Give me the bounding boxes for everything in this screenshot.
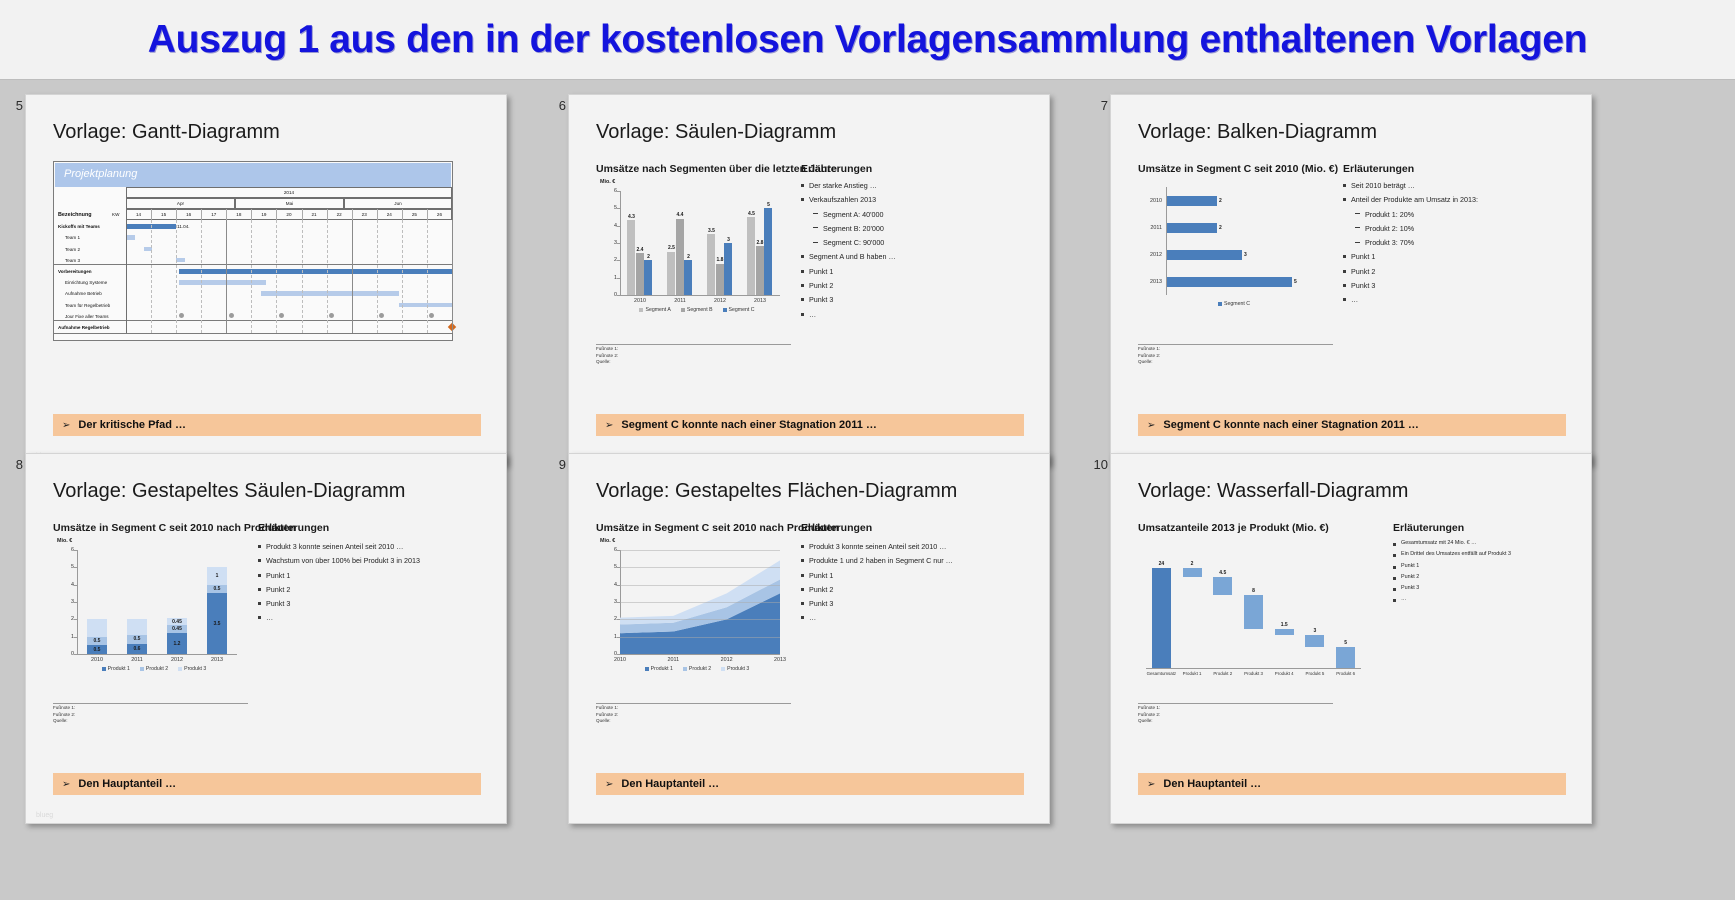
gantt-week-label: 19 — [251, 212, 276, 217]
list-item: Punkt 3 — [801, 295, 896, 304]
gantt-week-divider — [151, 209, 152, 220]
y-axis-tick-label: 3 — [603, 240, 617, 246]
list-item: Produkte 1 und 2 haben in Segment C nur … — [801, 556, 953, 565]
bullet-marker-icon — [1343, 184, 1346, 187]
x-axis-tick-label: 2012 — [700, 298, 740, 304]
bar-value-label: 2 — [680, 254, 697, 260]
slide-title: Vorlage: Gantt-Diagramm — [53, 121, 280, 144]
takeaway-banner[interactable]: ➢ Den Hauptanteil … — [1138, 773, 1566, 795]
gantt-milestone-dot[interactable] — [279, 313, 284, 318]
list-item-label: Segment C: 90'000 — [823, 238, 884, 247]
footnotes: Fußnote 1: Fußnote 2: Quelle: — [53, 705, 75, 725]
gantt-week-label: 22 — [327, 212, 352, 217]
y-axis-unit-label: Mio. € — [57, 538, 72, 544]
legend-swatch — [1218, 302, 1222, 306]
legend-label: Produkt 2 — [689, 666, 711, 672]
gantt-month-label-mai: Mai — [235, 201, 344, 206]
explanations-head: Erläuterungen — [801, 163, 872, 175]
gantt-grid-line — [352, 220, 353, 333]
gantt-week-label: 17 — [201, 212, 226, 217]
list-item: Segment B: 20'000 — [813, 224, 896, 233]
gantt-week-label: 25 — [402, 212, 427, 217]
bar-value-label: 4.3 — [623, 214, 640, 220]
footnote-rule — [596, 344, 791, 345]
gantt-row-label: Team 3 — [65, 258, 80, 263]
footnote-2: Fußnote 2: — [53, 712, 75, 719]
list-item: Punkt 3 — [258, 599, 420, 608]
list-item-label: Punkt 1 — [1401, 563, 1419, 569]
footnote-rule — [1138, 344, 1333, 345]
list-item: Produkt 2: 10% — [1355, 224, 1478, 233]
list-item-label: Punkt 3 — [266, 599, 290, 608]
slide-stacked-column-chart[interactable]: Vorlage: Gestapeltes Säulen-Diagramm Ums… — [25, 453, 507, 824]
gantt-milestone-dot[interactable] — [329, 313, 334, 318]
gantt-row-label: Team 1 — [65, 235, 80, 240]
waterfall-bar[interactable] — [1305, 635, 1324, 647]
footnote-2: Fußnote 2: — [1138, 353, 1160, 360]
list-item-label: Punkt 2 — [1401, 574, 1419, 580]
gantt-milestone-dot[interactable] — [429, 313, 434, 318]
explanations-list: Der starke Anstieg …Verkaufszahlen 2013S… — [801, 181, 896, 324]
gantt-group-divider — [54, 264, 452, 265]
legend-swatch — [639, 308, 643, 312]
gantt-band: Projektplanung — [55, 163, 451, 187]
legend-swatch — [683, 667, 687, 671]
legend-swatch — [721, 667, 725, 671]
bullet-marker-icon — [1343, 284, 1346, 287]
gantt-week-divider — [276, 209, 277, 220]
bullet-marker-icon — [258, 559, 261, 562]
segment-value-label: 0.5 — [127, 636, 147, 642]
slide-number: 8 — [16, 457, 23, 472]
waterfall-value-label: 4.5 — [1208, 570, 1237, 576]
takeaway-text: Den Hauptanteil … — [621, 778, 719, 790]
legend-item: Produkt 2 — [683, 666, 711, 672]
list-item: Punkt 2 — [1343, 267, 1478, 276]
chart-bar[interactable] — [764, 208, 772, 295]
footnote-source: Quelle: — [53, 718, 75, 725]
chart-bar[interactable] — [756, 246, 764, 295]
list-item-label: Punkt 2 — [1351, 267, 1375, 276]
gantt-bar[interactable] — [179, 269, 452, 274]
gantt-bar[interactable] — [176, 258, 185, 263]
gantt-week-divider — [402, 209, 403, 220]
takeaway-banner[interactable]: ➢ Segment C konnte nach einer Stagnation… — [596, 414, 1024, 436]
gantt-grid-line — [176, 220, 177, 333]
gantt-week-divider — [302, 209, 303, 220]
slide-area-chart[interactable]: Vorlage: Gestapeltes Flächen-Diagramm Um… — [568, 453, 1050, 824]
bullet-marker-icon — [801, 198, 804, 201]
takeaway-banner[interactable]: ➢ Der kritische Pfad … — [53, 414, 481, 436]
explanations-list: Produkt 3 konnte seinen Anteil seit 2010… — [801, 542, 953, 628]
bar-value-label: 5 — [1294, 279, 1304, 285]
bullet-marker-icon — [1355, 227, 1360, 230]
chart-legend: Segment C — [1152, 301, 1316, 307]
chart-bar[interactable] — [707, 234, 715, 295]
y-axis-line — [77, 550, 78, 654]
slide-bar-chart[interactable]: Vorlage: Balken-Diagramm Umsätze in Segm… — [1110, 94, 1592, 465]
slide-number: 9 — [559, 457, 566, 472]
legend-swatch — [645, 667, 649, 671]
list-item-label: Segment B: 20'000 — [823, 224, 884, 233]
list-item: Punkt 1 — [1343, 252, 1478, 261]
legend-item: Segment C — [723, 307, 755, 313]
chart-bar[interactable] — [684, 260, 692, 295]
legend-item: Segment C — [1218, 301, 1250, 307]
list-item: Produkt 3 konnte seinen Anteil seit 2010… — [258, 542, 420, 551]
waterfall-bar[interactable] — [1213, 577, 1232, 596]
slide-grid: Vorlage: Gantt-Diagramm Zeitplan bis Reg… — [0, 80, 1735, 900]
column-chart[interactable]: Mio. €012345620104.32.4220112.54.4220123… — [596, 177, 791, 337]
gantt-row-label: Team 2 — [65, 247, 80, 252]
segment-value-label: 0.5 — [207, 586, 227, 592]
list-item-label: Produkt 3: 70% — [1365, 238, 1414, 247]
gantt-col-header: Bezeichnung — [58, 212, 92, 218]
x-axis-line — [620, 295, 780, 296]
bullet-marker-icon — [258, 574, 261, 577]
list-item-label: Produkte 1 und 2 haben in Segment C nur … — [809, 556, 953, 565]
y-axis-tick-label: 6 — [603, 188, 617, 194]
slide-title: Vorlage: Säulen-Diagramm — [596, 121, 836, 144]
slide-gantt[interactable]: Vorlage: Gantt-Diagramm Zeitplan bis Reg… — [25, 94, 507, 465]
chart-bar[interactable] — [747, 217, 755, 295]
explanations-list: Produkt 3 konnte seinen Anteil seit 2010… — [258, 542, 420, 628]
footnote-source: Quelle: — [596, 359, 618, 366]
x-axis-tick-label: 2013 — [768, 657, 792, 663]
list-item-label: Punkt 1 — [266, 571, 290, 580]
list-item-label: … — [809, 613, 816, 622]
gantt-milestone-dot[interactable] — [379, 313, 384, 318]
chart-bar[interactable] — [1167, 196, 1217, 206]
takeaway-banner[interactable]: ➢ Den Hauptanteil … — [53, 773, 481, 795]
grid-line — [620, 550, 780, 551]
list-item-label: Punkt 1 — [809, 267, 833, 276]
bullet-marker-icon — [801, 270, 804, 273]
bullet-marker-icon — [813, 242, 818, 245]
gantt-milestone-dot[interactable] — [229, 313, 234, 318]
bar-value-label: 2 — [640, 254, 657, 260]
gantt-week-divider — [352, 209, 353, 220]
bullet-marker-icon — [1343, 198, 1346, 201]
grid-line — [620, 585, 780, 586]
y-axis-tick-label: 5 — [603, 564, 617, 570]
bullet-marker-icon — [1393, 543, 1396, 546]
y-axis-tick-label: 2 — [603, 616, 617, 622]
slide-number: 7 — [1101, 98, 1108, 113]
footnote-source: Quelle: — [596, 718, 618, 725]
gantt-band-title: Projektplanung — [64, 168, 137, 180]
takeaway-text: Segment C konnte nach einer Stagnation 2… — [1163, 419, 1419, 431]
bar-value-label: 2 — [1219, 198, 1229, 204]
y-axis-tick-label: 2010 — [1140, 198, 1162, 204]
explanations-list: Seit 2010 beträgt …Anteil der Produkte a… — [1343, 181, 1478, 310]
y-axis-tick-label: 0 — [60, 651, 74, 657]
waterfall-bar[interactable] — [1152, 568, 1171, 668]
gantt-week-label: 26 — [427, 212, 452, 217]
x-axis-tick-label: 2012 — [157, 657, 197, 663]
gantt-milestone-dot[interactable] — [179, 313, 184, 318]
gantt-week-divider — [427, 209, 428, 220]
waterfall-value-label: 2 — [1178, 561, 1207, 567]
waterfall-bar[interactable] — [1336, 647, 1355, 668]
footnote-1: Fußnote 1: — [596, 346, 618, 353]
y-axis-tick-label: 2011 — [1140, 225, 1162, 231]
gantt-bottom-border — [54, 333, 452, 334]
bullet-marker-icon — [801, 545, 804, 548]
slide-number: 6 — [559, 98, 566, 113]
gantt-month-label-jun: Jun — [344, 201, 452, 206]
chart-legend: Produkt 1Produkt 2Produkt 3 — [610, 666, 784, 672]
list-item-label: Produkt 3 konnte seinen Anteil seit 2010… — [809, 542, 946, 551]
legend-item: Produkt 1 — [102, 666, 130, 672]
x-axis-tick-label: Produkt 6 — [1327, 671, 1364, 676]
grid-line — [620, 602, 780, 603]
horizontal-bar-chart[interactable]: 20102201122012320135Segment C — [1138, 177, 1333, 337]
y-axis-tick-label: 1 — [60, 634, 74, 640]
gantt-week-divider — [201, 209, 202, 220]
stacked-column-chart[interactable]: Mio. €012345620100.50.520110.60.520121.2… — [53, 536, 248, 696]
gantt-grid-line — [276, 220, 277, 333]
bullet-marker-icon — [1393, 554, 1396, 557]
list-item: Produkt 3: 70% — [1355, 238, 1478, 247]
bullet-marker-icon — [1343, 270, 1346, 273]
gantt-grid-line — [427, 220, 428, 333]
y-axis-unit-label: Mio. € — [600, 179, 615, 185]
gantt-week-label: 21 — [302, 212, 327, 217]
arrow-icon: ➢ — [62, 420, 70, 431]
waterfall-value-label: 3 — [1300, 628, 1329, 634]
explanations-head: Erläuterungen — [1343, 163, 1414, 175]
chart-bar-segment[interactable] — [127, 619, 147, 635]
gantt-bar[interactable] — [399, 303, 452, 308]
gantt-bar[interactable] — [261, 291, 399, 296]
watermark: blueg — [36, 812, 53, 819]
legend-label: Produkt 1 — [108, 666, 130, 672]
gantt-grid-line — [452, 220, 453, 333]
bullet-marker-icon — [1355, 213, 1360, 216]
x-axis-line — [620, 654, 780, 655]
bar-value-label: 3 — [1244, 252, 1254, 258]
segment-value-label: 1.2 — [167, 641, 187, 647]
legend-item: Produkt 3 — [721, 666, 749, 672]
gantt-grid-line — [151, 220, 152, 333]
list-item: Punkt 2 — [801, 585, 953, 594]
list-item-label: Der starke Anstieg … — [809, 181, 877, 190]
list-item: … — [801, 310, 896, 319]
footnote-source: Quelle: — [1138, 359, 1160, 366]
bullet-marker-icon — [801, 616, 804, 619]
legend-label: Produkt 3 — [727, 666, 749, 672]
gantt-grid-line — [302, 220, 303, 333]
gantt-grid-line — [201, 220, 202, 333]
gantt-week-divider — [226, 209, 227, 220]
list-item: Punkt 3 — [1393, 585, 1511, 591]
y-axis-tick-label: 1 — [603, 634, 617, 640]
slide-title: Vorlage: Balken-Diagramm — [1138, 121, 1377, 144]
list-item: Der starke Anstieg … — [801, 181, 896, 190]
page-header: Auszug 1 aus den in der kostenlosen Vorl… — [0, 0, 1735, 80]
list-item-label: Punkt 1 — [1351, 252, 1375, 261]
chart-bar[interactable] — [1167, 223, 1217, 233]
segment-value-label: 0.6 — [127, 646, 147, 652]
list-item: Produkt 3 konnte seinen Anteil seit 2010… — [801, 542, 953, 551]
takeaway-banner[interactable]: ➢ Segment C konnte nach einer Stagnation… — [1138, 414, 1566, 436]
stacked-area-chart[interactable]: Mio. €01234562010201120122013Produkt 1Pr… — [596, 536, 791, 696]
list-item: Punkt 2 — [1393, 574, 1511, 580]
footnote-2: Fußnote 2: — [596, 353, 618, 360]
grid-line — [620, 619, 780, 620]
x-axis-tick-label: 2010 — [77, 657, 117, 663]
chart-bar-segment[interactable] — [87, 619, 107, 636]
list-item-label: Produkt 2: 10% — [1365, 224, 1414, 233]
legend-item: Segment B — [681, 307, 713, 313]
chart-bar[interactable] — [1167, 277, 1292, 287]
legend-item: Produkt 1 — [645, 666, 673, 672]
grid-line — [620, 637, 780, 638]
gantt-week-label: 14 — [126, 212, 151, 217]
bar-value-label: 2.4 — [632, 247, 649, 253]
gantt-bar[interactable] — [179, 280, 267, 285]
x-axis-tick-label: 2011 — [660, 298, 700, 304]
list-item-label: Produkt 1: 20% — [1365, 210, 1414, 219]
footnote-1: Fußnote 1: — [1138, 705, 1160, 712]
list-item-label: Punkt 1 — [809, 571, 833, 580]
chart-bar[interactable] — [1167, 250, 1242, 260]
y-axis-tick-label: 6 — [60, 547, 74, 553]
explanations-head: Erläuterungen — [1393, 522, 1464, 534]
legend-swatch — [178, 667, 182, 671]
gantt-year-label: 2014 — [126, 190, 452, 195]
list-item: Verkaufszahlen 2013 — [801, 195, 896, 204]
gantt-row-label: Aufnahme Regelbetrieb — [58, 325, 110, 330]
legend-label: Produkt 2 — [146, 666, 168, 672]
bullet-marker-icon — [258, 545, 261, 548]
list-item-label: Punkt 3 — [809, 599, 833, 608]
waterfall-bar[interactable] — [1275, 629, 1294, 635]
waterfall-bar[interactable] — [1244, 595, 1263, 628]
bullet-marker-icon — [801, 588, 804, 591]
bar-value-label: 2 — [1219, 225, 1229, 231]
gantt-week-divider — [377, 209, 378, 220]
bullet-marker-icon — [1355, 242, 1360, 245]
takeaway-text: Der kritische Pfad … — [78, 419, 186, 431]
list-item-label: … — [809, 310, 816, 319]
arrow-icon: ➢ — [605, 420, 613, 431]
gantt-chart[interactable]: Projektplanung 2014 Apr Mai Jun Bezeichn… — [53, 161, 453, 341]
slide-subhead: Umsätze in Segment C seit 2010 (Mio. €) — [1138, 163, 1338, 175]
list-item-label: … — [1351, 295, 1358, 304]
x-axis-tick-label: 2011 — [661, 657, 685, 663]
footnotes: Fußnote 1: Fußnote 2: Quelle: — [596, 346, 618, 366]
list-item: Punkt 1 — [801, 267, 896, 276]
list-item-label: Punkt 2 — [809, 281, 833, 290]
slide-title: Vorlage: Wasserfall-Diagramm — [1138, 480, 1408, 503]
footnotes: Fußnote 1: Fußnote 2: Quelle: — [1138, 346, 1160, 366]
explanations-list: Gesamtumsatz mit 24 Mio. € …Ein Drittel … — [1393, 540, 1511, 608]
gantt-week-label: 20 — [276, 212, 301, 217]
x-axis-tick-label: 2013 — [740, 298, 780, 304]
list-item: Segment A: 40'000 — [813, 210, 896, 219]
list-item-label: Ein Drittel des Umsatzes entfällt auf Pr… — [1401, 551, 1511, 557]
bullet-marker-icon — [801, 298, 804, 301]
chart-bar[interactable] — [644, 260, 652, 295]
bullet-marker-icon — [813, 213, 818, 216]
slide-number: 10 — [1094, 457, 1108, 472]
chart-bar[interactable] — [627, 220, 635, 295]
bar-value-label: 3 — [720, 237, 737, 243]
chart-bar[interactable] — [724, 243, 732, 295]
waterfall-bar[interactable] — [1183, 568, 1202, 576]
gantt-row-label: Team für Regelbetrieb — [65, 303, 110, 308]
bullet-marker-icon — [1393, 577, 1396, 580]
chart-bar[interactable] — [667, 252, 675, 295]
y-axis-line — [620, 191, 621, 295]
chart-bar[interactable] — [716, 264, 724, 295]
list-item: Punkt 1 — [801, 571, 953, 580]
list-item: Ein Drittel des Umsatzes entfällt auf Pr… — [1393, 551, 1511, 557]
bar-value-label: 4.4 — [672, 212, 689, 218]
list-item-label: Punkt 2 — [266, 585, 290, 594]
slide-column-chart[interactable]: Vorlage: Säulen-Diagramm Umsätze nach Se… — [568, 94, 1050, 465]
list-item-label: Segment A: 40'000 — [823, 210, 884, 219]
explanations-head: Erläuterungen — [801, 522, 872, 534]
list-item-label: Seit 2010 beträgt … — [1351, 181, 1415, 190]
list-item: Produkt 1: 20% — [1355, 210, 1478, 219]
bar-value-label: 5 — [760, 202, 777, 208]
list-item-label: Punkt 3 — [1351, 281, 1375, 290]
bullet-marker-icon — [801, 602, 804, 605]
x-axis-tick-label: 2010 — [608, 657, 632, 663]
y-axis-tick-label: 2 — [603, 257, 617, 263]
legend-item: Segment A — [639, 307, 670, 313]
bullet-marker-icon — [801, 284, 804, 287]
bar-value-label: 4.5 — [743, 211, 760, 217]
footnote-1: Fußnote 1: — [596, 705, 618, 712]
list-item: Seit 2010 beträgt … — [1343, 181, 1478, 190]
arrow-icon: ➢ — [62, 779, 70, 790]
gantt-row-label: Vorbereitungen — [58, 269, 92, 274]
gantt-kw-label: KW — [112, 212, 119, 217]
takeaway-banner[interactable]: ➢ Den Hauptanteil … — [596, 773, 1024, 795]
list-item-label: Punkt 3 — [809, 295, 833, 304]
legend-label: Produkt 3 — [184, 666, 206, 672]
bullet-marker-icon — [801, 559, 804, 562]
legend-swatch — [102, 667, 106, 671]
y-axis-tick-label: 0 — [603, 292, 617, 298]
footnotes: Fußnote 1: Fußnote 2: Quelle: — [1138, 705, 1160, 725]
list-item-label: Gesamtumsatz mit 24 Mio. € … — [1401, 540, 1477, 546]
gantt-bar[interactable] — [126, 235, 135, 240]
list-item: Segment C: 90'000 — [813, 238, 896, 247]
bullet-marker-icon — [1393, 566, 1396, 569]
footnote-rule — [53, 703, 248, 704]
y-axis-tick-label: 4 — [60, 582, 74, 588]
gantt-grid-line — [402, 220, 403, 333]
bullet-marker-icon — [801, 574, 804, 577]
x-axis-tick-label: 2012 — [715, 657, 739, 663]
takeaway-text: Den Hauptanteil … — [1163, 778, 1261, 790]
page-title: Auszug 1 aus den in der kostenlosen Vorl… — [148, 18, 1587, 62]
bullet-marker-icon — [258, 616, 261, 619]
list-item-label: Anteil der Produkte am Umsatz in 2013: — [1351, 195, 1478, 204]
waterfall-chart[interactable]: 24Gesamtumsatz2Produkt 14.5Produkt 28Pro… — [1138, 536, 1383, 701]
list-item: Segment A und B haben … — [801, 252, 896, 261]
list-item-label: … — [1401, 596, 1406, 602]
chart-legend: Produkt 1Produkt 2Produkt 3 — [67, 666, 241, 672]
gantt-grid-line — [226, 220, 227, 333]
slide-waterfall-chart[interactable]: Vorlage: Wasserfall-Diagramm Umsatzantei… — [1110, 453, 1592, 824]
legend-label: Produkt 1 — [651, 666, 673, 672]
